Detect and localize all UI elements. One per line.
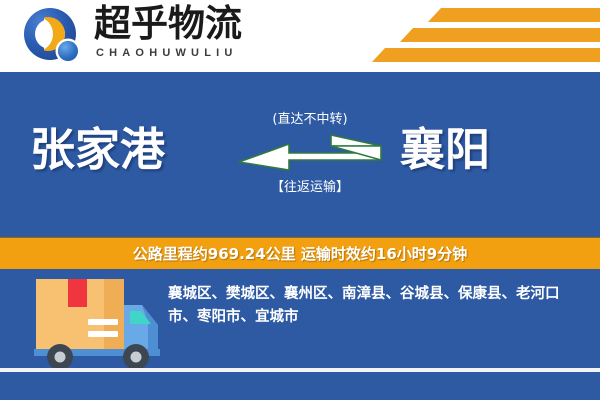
delivery-truck-icon <box>26 271 168 371</box>
destination-city: 襄阳 <box>400 122 490 178</box>
stripe-middle <box>400 28 600 42</box>
brand-wordmark: 超乎物流 CHAOHUWULIU <box>94 4 274 60</box>
double-headed-arrow-icon <box>237 134 383 176</box>
origin-city: 张家港 <box>30 122 165 178</box>
logistics-route-banner: 超乎物流 CHAOHUWULIU 张家港 (直达不中转) 【往返运输】 襄阳 <box>0 0 600 400</box>
company-logo-icon <box>24 8 86 64</box>
stripe-top <box>428 8 600 22</box>
road-line-decoration <box>0 368 600 372</box>
direct-route-note: (直达不中转) <box>240 112 380 128</box>
route-section: 张家港 (直达不中转) 【往返运输】 襄阳 <box>0 72 600 237</box>
banner-header: 超乎物流 CHAOHUWULIU <box>0 0 600 72</box>
brand-name-chinese: 超乎物流 <box>94 4 274 44</box>
round-trip-note: 【往返运输】 <box>240 180 380 196</box>
coverage-areas-list: 襄城区、樊城区、襄州区、南漳县、谷城县、保康县、老河口市、枣阳市、宜城市 <box>168 283 580 329</box>
header-stripes-decoration <box>360 8 600 66</box>
route-info-bar: 公路里程约969.24公里 运输时效约16小时9分钟 <box>0 237 600 270</box>
brand-name-pinyin: CHAOHUWULIU <box>96 46 274 60</box>
route-middle-group: (直达不中转) 【往返运输】 <box>240 112 380 202</box>
stripe-bottom <box>372 48 600 62</box>
coverage-section: 襄城区、樊城区、襄州区、南漳县、谷城县、保康县、老河口市、枣阳市、宜城市 <box>0 269 600 400</box>
logo-small-dot-shape <box>58 41 78 61</box>
distance-and-duration-label: 公路里程约969.24公里 运输时效约16小时9分钟 <box>133 243 467 264</box>
